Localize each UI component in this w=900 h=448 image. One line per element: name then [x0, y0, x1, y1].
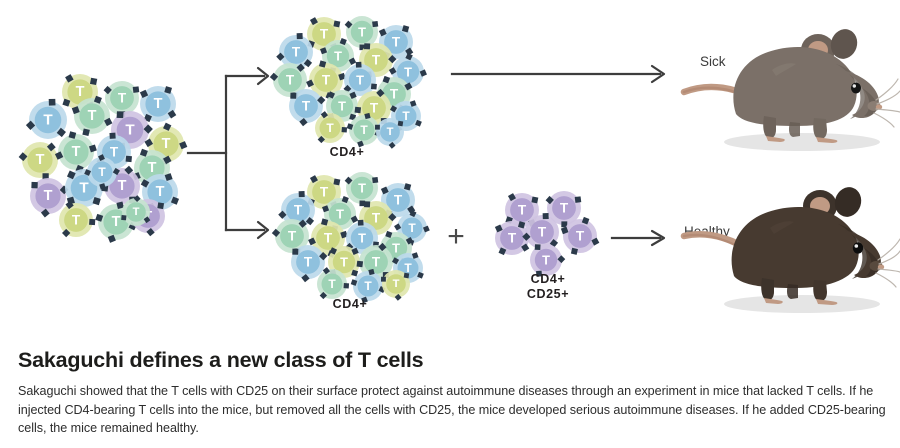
svg-text:T: T — [390, 87, 399, 102]
svg-text:T: T — [302, 99, 311, 114]
svg-text:T: T — [358, 25, 366, 40]
svg-text:T: T — [43, 112, 53, 129]
svg-text:T: T — [402, 109, 410, 123]
svg-text:T: T — [324, 231, 333, 246]
svg-text:T: T — [156, 184, 165, 200]
svg-text:T: T — [320, 185, 329, 200]
cluster-label-cd4-cd25-line1: CD4+ — [527, 272, 569, 287]
figure-stage: TTTTTTTTTTTTTTTTTTTT TTTTTTTTTTTTTTTTTT … — [0, 0, 900, 448]
svg-text:T: T — [72, 213, 81, 228]
svg-text:T: T — [370, 101, 379, 116]
cluster-label-cd4-cd25: CD4+ CD25+ — [527, 272, 569, 302]
svg-text:T: T — [44, 188, 53, 204]
svg-text:T: T — [286, 73, 295, 88]
svg-text:T: T — [76, 84, 85, 100]
svg-text:T: T — [72, 144, 81, 160]
svg-text:T: T — [340, 255, 348, 270]
svg-text:T: T — [542, 253, 550, 268]
svg-text:T: T — [320, 27, 329, 42]
svg-text:T: T — [112, 214, 121, 230]
arrow-to-sick — [452, 64, 672, 84]
svg-text:T: T — [508, 231, 517, 246]
svg-text:T: T — [88, 108, 97, 124]
svg-text:T: T — [288, 229, 297, 244]
svg-text:T: T — [118, 178, 127, 194]
svg-text:T: T — [518, 203, 527, 218]
plus-operator: + — [447, 222, 465, 252]
svg-text:T: T — [125, 122, 135, 139]
svg-text:T: T — [538, 225, 547, 240]
svg-text:T: T — [372, 211, 381, 226]
svg-text:T: T — [404, 261, 412, 275]
cd4-top-cluster-svg: TTTTTTTTTTTTTTTTTT — [268, 16, 428, 148]
svg-text:T: T — [358, 181, 366, 196]
arrow-to-healthy — [612, 228, 672, 248]
svg-text:T: T — [404, 65, 412, 80]
caption-title: Sakaguchi defines a new class of T cells — [18, 348, 890, 373]
mouse-healthy — [676, 180, 900, 320]
svg-text:T: T — [98, 165, 106, 179]
svg-text:T: T — [560, 201, 569, 216]
svg-text:T: T — [372, 53, 381, 68]
svg-text:T: T — [360, 123, 368, 137]
svg-text:T: T — [356, 73, 364, 88]
svg-text:T: T — [133, 206, 140, 218]
cell-cluster-cd4-bottom: TTTTTTTTTTTTTTTTTT — [272, 172, 430, 300]
caption-block: Sakaguchi defines a new class of T cells… — [18, 348, 890, 438]
caption-body: Sakaguchi showed that the T cells with C… — [18, 382, 890, 438]
cd4-bottom-cluster-svg: TTTTTTTTTTTTTTTTTT — [272, 172, 430, 300]
mouse-sick — [676, 18, 900, 158]
svg-text:T: T — [393, 278, 400, 290]
svg-text:T: T — [294, 203, 303, 218]
svg-text:T: T — [336, 207, 344, 222]
cell-cluster-cd4-top: TTTTTTTTTTTTTTTTTT — [268, 16, 428, 148]
svg-text:T: T — [408, 221, 416, 235]
svg-text:T: T — [334, 49, 342, 64]
svg-text:T: T — [576, 229, 585, 244]
cluster-label-cd4-cd25-line2: CD25+ — [527, 287, 569, 302]
mouse-sick-illustration — [676, 18, 900, 158]
svg-text:T: T — [364, 279, 372, 293]
svg-text:T: T — [338, 99, 346, 114]
svg-text:T: T — [118, 91, 127, 106]
svg-text:T: T — [292, 45, 301, 60]
svg-text:T: T — [358, 231, 366, 246]
svg-text:T: T — [326, 121, 334, 135]
svg-text:T: T — [110, 145, 119, 160]
svg-text:T: T — [154, 96, 163, 112]
svg-text:T: T — [372, 255, 381, 270]
svg-text:T: T — [394, 193, 403, 208]
svg-text:T: T — [328, 277, 336, 291]
cell-cluster-source: TTTTTTTTTTTTTTTTTTTT — [18, 72, 188, 232]
cd4-cd25-cluster-svg: TTTTTT — [496, 188, 602, 274]
svg-text:T: T — [162, 136, 171, 152]
svg-text:T: T — [387, 126, 394, 138]
svg-text:T: T — [392, 35, 401, 50]
cell-cluster-cd4-cd25: TTTTTT — [496, 188, 602, 274]
svg-text:T: T — [304, 255, 313, 270]
mouse-healthy-illustration — [676, 180, 900, 320]
svg-text:T: T — [79, 180, 89, 197]
svg-text:T: T — [392, 241, 400, 256]
cluster-label-cd4-bottom: CD4+ — [333, 297, 368, 312]
svg-text:T: T — [36, 152, 45, 168]
svg-text:T: T — [322, 73, 331, 88]
cluster-label-cd4-top: CD4+ — [330, 145, 365, 160]
svg-text:T: T — [148, 160, 157, 176]
source-cluster-svg: TTTTTTTTTTTTTTTTTTTT — [18, 72, 188, 232]
